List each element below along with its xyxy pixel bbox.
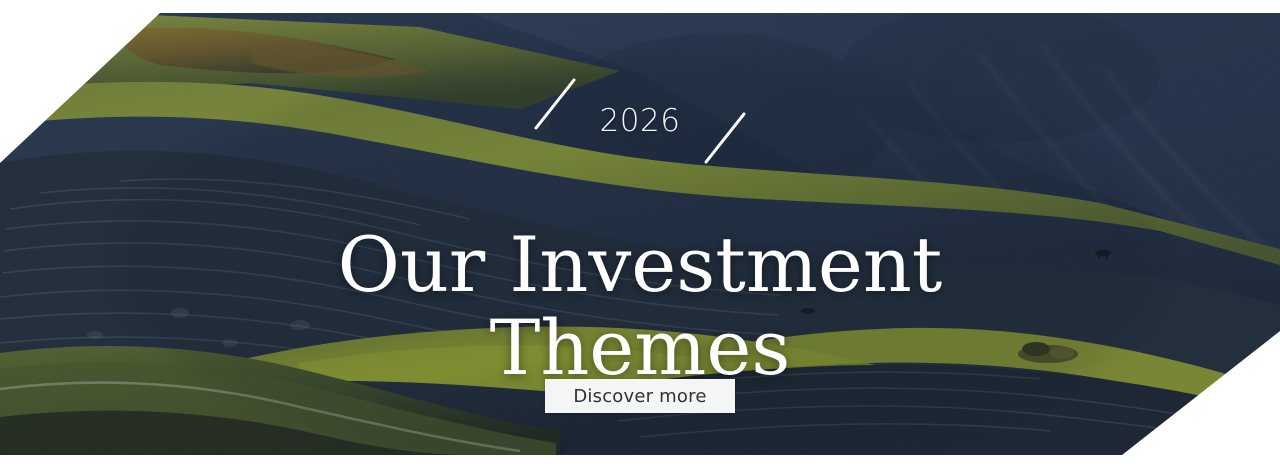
hero-banner: 2026 Our Investment Themes Discover more bbox=[0, 0, 1280, 473]
discover-more-button[interactable]: Discover more bbox=[545, 379, 735, 413]
cta-container: Discover more bbox=[0, 379, 1280, 413]
